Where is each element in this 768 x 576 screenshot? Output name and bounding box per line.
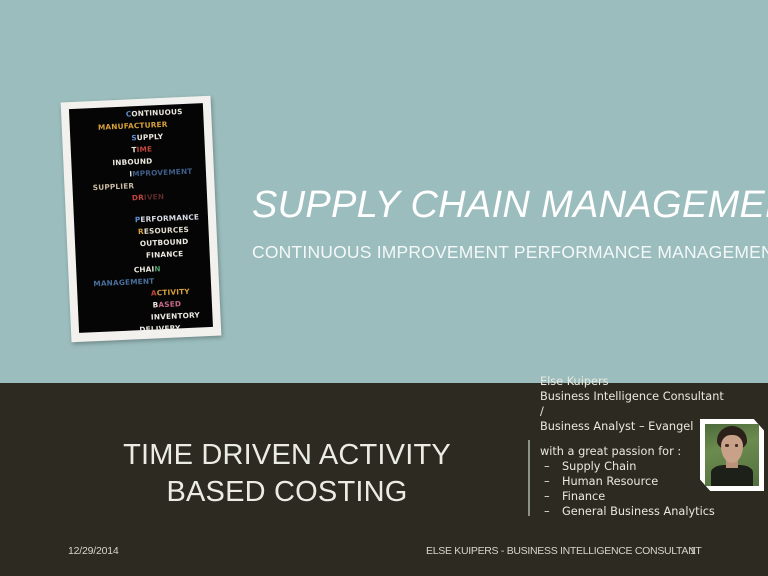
- wordcloud-word: INVENTORY: [108, 310, 213, 323]
- bullet-marker: –: [544, 459, 550, 474]
- footer-date: 12/29/2014: [68, 545, 119, 557]
- presenter-name: Else Kuipers: [540, 374, 768, 389]
- wordcloud-word: TIME: [75, 143, 209, 156]
- avatar-image: [705, 424, 759, 486]
- title-block: SUPPLY CHAIN MANAGEMENT CONTINUOUS IMPRO…: [252, 186, 768, 263]
- list-item-label: Supply Chain: [562, 460, 636, 473]
- list-item: –General Business Analytics: [540, 504, 768, 519]
- bullet-marker: –: [544, 504, 550, 519]
- wordcloud-word: BASED: [100, 298, 213, 311]
- list-item: –Finance: [540, 489, 768, 504]
- wordcloud-word: PERFORMANCE: [100, 212, 213, 225]
- section-heading: TIME DRIVEN ACTIVITY BASED COSTING: [62, 437, 512, 511]
- footer-author: ELSE KUIPERS - BUSINESS INTELLIGENCE CON…: [426, 545, 702, 557]
- wordcloud-word: IMPROVEMENT: [94, 166, 213, 179]
- avatar-body-shape: [711, 465, 752, 486]
- wordcloud-word: OUTBOUND: [97, 236, 213, 249]
- wordcloud-image: CONTINUOUSMANUFACTURERSUPPLYTIMEINBOUNDI…: [61, 96, 222, 343]
- section-heading-line-1: TIME DRIVEN ACTIVITY: [62, 437, 512, 474]
- presenter-role-line-2: /: [540, 404, 768, 419]
- wordcloud-word: ACTIVITY: [103, 286, 213, 299]
- bullet-marker: –: [544, 489, 550, 504]
- wordcloud-word: DRIVEN: [81, 191, 213, 204]
- bullet-marker: –: [544, 474, 550, 489]
- page-title: SUPPLY CHAIN MANAGEMENT: [252, 186, 768, 226]
- wordcloud-word: FINANCE: [98, 248, 213, 261]
- section-heading-line-2: BASED COSTING: [62, 474, 512, 511]
- wordcloud-word: SUPPLY: [80, 131, 213, 144]
- avatar-eye-left: [725, 444, 729, 446]
- wordcloud-canvas: CONTINUOUSMANUFACTURERSUPPLYTIMEINBOUNDI…: [69, 103, 213, 333]
- page-subtitle: CONTINUOUS IMPROVEMENT PERFORMANCE MANAG…: [252, 226, 768, 263]
- wordcloud-word: RESOURCES: [96, 224, 213, 237]
- footer-page-number: 1: [690, 545, 696, 557]
- presenter-avatar: [700, 419, 764, 491]
- wordcloud-word: MANUFACTURER: [69, 119, 200, 132]
- avatar-face-shape: [721, 435, 743, 464]
- list-item-label: Finance: [562, 490, 605, 503]
- wordcloud-word: DELIVERY: [93, 322, 213, 333]
- presentation-slide: CONTINUOUSMANUFACTURERSUPPLYTIMEINBOUNDI…: [0, 0, 768, 576]
- presenter-role-line-1: Business Intelligence Consultant: [540, 389, 768, 404]
- wordcloud-word: CHAIN: [80, 263, 213, 276]
- wordcloud-word: CONTINUOUS: [87, 106, 213, 119]
- list-item-label: Human Resource: [562, 475, 658, 488]
- vertical-divider: [528, 440, 530, 516]
- list-item-label: General Business Analytics: [562, 505, 715, 518]
